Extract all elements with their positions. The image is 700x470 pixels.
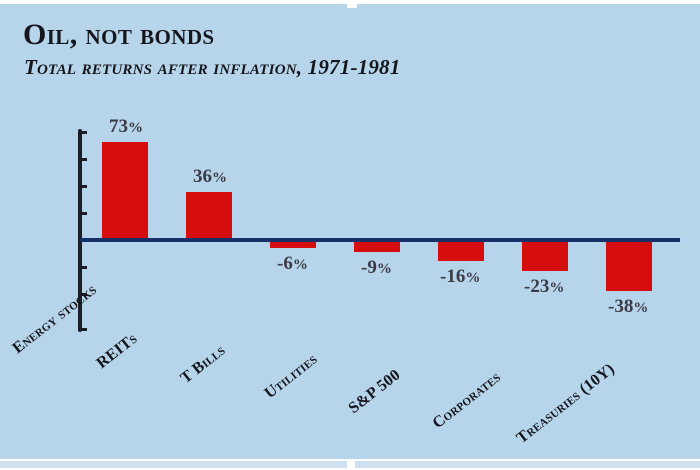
value-label: 73% [109,117,143,136]
bar-reits [186,192,232,240]
category-label: T Bills [178,343,228,387]
category-label: Corporates [430,369,504,432]
value-label: -9% [361,258,392,277]
chart-figure: Oil, not bonds Total returns after infla… [0,0,700,470]
bar-corporates [522,240,568,271]
y-axis-tick [82,266,87,269]
bar-energy-stocks [102,142,148,240]
bar-treasuries-10y [606,240,652,291]
category-label: REITs [94,331,140,372]
plot-area: 73%36%-6%-9%-16%-23%-38% Energy stocksRE… [0,0,700,470]
y-axis-tick [82,328,87,331]
value-label: -16% [440,267,480,286]
value-label: 36% [193,167,227,186]
category-label: Treasuries (10Y) [514,361,618,447]
y-axis-tick [82,185,87,188]
category-label: Utilities [262,351,320,402]
bar-s-p-500 [438,240,484,261]
value-label: -38% [608,297,648,316]
zero-baseline [80,238,680,242]
category-label: S&P 500 [346,367,404,417]
value-label: -6% [277,254,308,273]
bottom-band-notch [347,459,355,470]
y-axis-tick [82,212,87,215]
y-axis-tick [82,158,87,161]
category-label: Energy stocks [10,282,100,357]
value-label: -23% [524,277,564,296]
y-axis-tick [82,131,87,134]
bottom-edge-band [0,459,700,470]
